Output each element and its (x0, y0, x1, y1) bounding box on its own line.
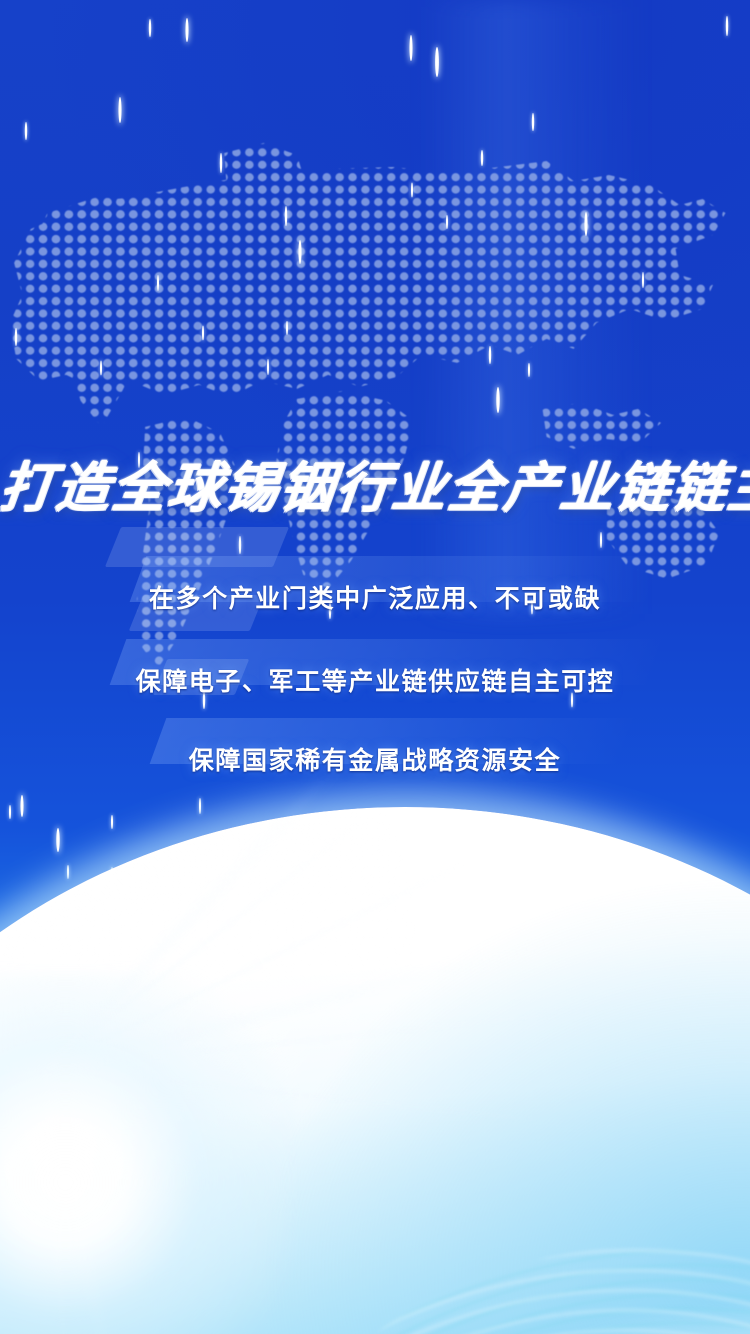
page-title: 打造全球锡铟行业全产业链链主 (0, 460, 750, 514)
subtitle-line-3: 保障国家稀有金属战略资源安全 (0, 749, 750, 774)
subtitle-line-1: 在多个产业门类中广泛应用、不可或缺 (0, 587, 750, 612)
flare-core (0, 974, 293, 1334)
subtitle-line-2: 保障电子、军工等产业链供应链自主可控 (0, 670, 750, 695)
poster-canvas: 打造全球锡铟行业全产业链链主 在多个产业门类中广泛应用、不可或缺 保障电子、军工… (0, 0, 750, 1334)
